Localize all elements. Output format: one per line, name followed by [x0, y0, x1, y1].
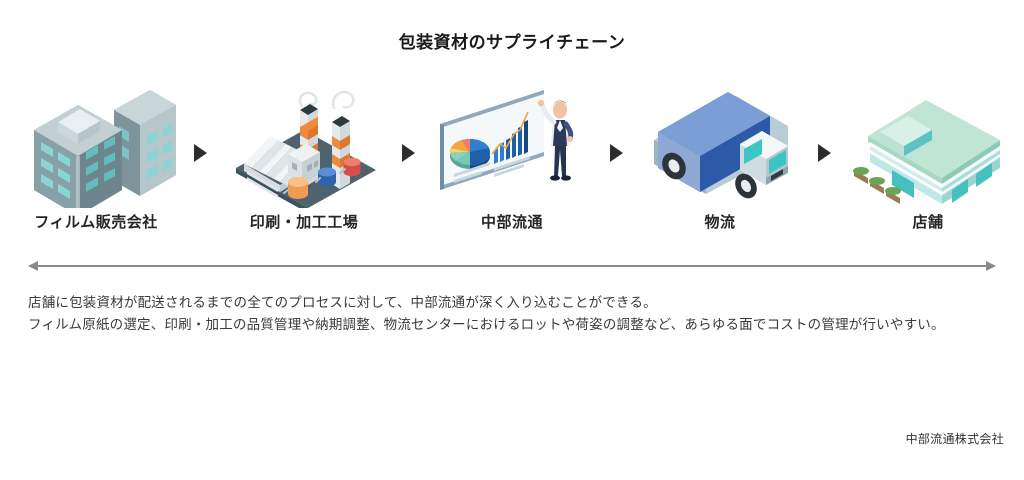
delivery-truck-icon	[640, 78, 800, 208]
flow-arrow-3	[603, 78, 629, 228]
play-triangle-arrow-icon	[402, 144, 415, 162]
double-headed-arrow-icon	[28, 258, 996, 274]
flow-label-film-sales-company: フィルム販売会社	[16, 211, 176, 232]
footer-company-name: 中部流通株式会社	[0, 430, 1004, 447]
flow-labels: フィルム販売会社 印刷・加工工場 中部流通 物流 店舗	[0, 208, 1024, 234]
supply-chain-flow	[0, 78, 1024, 228]
play-triangle-arrow-icon	[194, 144, 207, 162]
flow-arrow-1	[187, 78, 213, 228]
description-text: 店舗に包装資材が配送されるまでの全てのプロセスに対して、中部流通が深く入り込むこ…	[28, 292, 998, 336]
play-triangle-arrow-icon	[818, 144, 831, 162]
play-triangle-arrow-icon	[610, 144, 623, 162]
flow-label-logistics: 物流	[640, 211, 800, 232]
flow-arrow-2	[395, 78, 421, 228]
presentation-chart-icon	[432, 78, 592, 208]
flow-label-store: 店舗	[848, 211, 1008, 232]
office-building-icon	[16, 78, 176, 208]
span-range-arrow	[28, 258, 996, 274]
flow-node-store	[848, 78, 1008, 228]
flow-label-chubu-distribution: 中部流通	[432, 211, 592, 232]
page-title: 包装資材のサプライチェーン	[0, 28, 1024, 53]
factory-icon	[224, 78, 384, 208]
flow-arrow-4	[811, 78, 837, 228]
flow-node-chubu-distribution	[432, 78, 592, 228]
flow-node-logistics	[640, 78, 800, 228]
description-line-1: 店舗に包装資材が配送されるまでの全てのプロセスに対して、中部流通が深く入り込むこ…	[28, 292, 998, 314]
retail-store-icon	[848, 78, 1008, 208]
flow-node-printing-factory	[224, 78, 384, 228]
description-line-2: フィルム原紙の選定、印刷・加工の品質管理や納期調整、物流センターにおけるロットや…	[28, 314, 998, 336]
flow-label-printing-factory: 印刷・加工工場	[224, 211, 384, 232]
flow-node-film-sales-company	[16, 78, 176, 228]
